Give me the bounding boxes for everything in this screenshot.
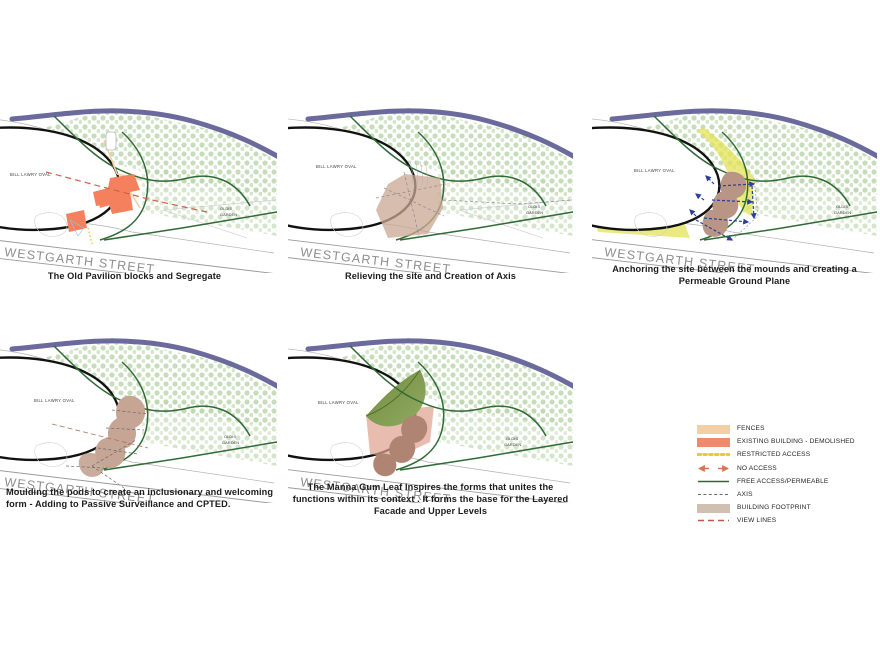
site-plan-svg-4: WESTGARTH STREET BILL LAWRY OVAL OLDIS G… <box>0 318 277 503</box>
panel-5-caption: The Manna Gum Leaf Inspires the forms th… <box>288 481 573 517</box>
panel-2-caption: Relieving the site and Creation of Axis <box>288 270 573 282</box>
legend-label-existing-building-demolished: EXISTING BUILDING - DEMOLISHED <box>737 438 855 445</box>
street-label: WESTGARTH STREET <box>300 245 452 273</box>
legend-label-axis: AXIS <box>737 491 753 498</box>
solid-line-icon <box>697 475 730 488</box>
garden-label-line1: OLDIS <box>528 204 540 209</box>
garden-label-line2: GARDEN <box>220 212 237 217</box>
dotted-line-icon <box>697 448 730 461</box>
panel-3: WESTGARTH STREET BILL LAWRY OVAL OLDIS G… <box>592 88 877 303</box>
panel-1-caption: The Old Pavilion blocks and Segregate <box>0 270 277 282</box>
double-arrow-icon <box>697 462 730 475</box>
garden-label-line2: GARDEN <box>526 210 543 215</box>
oval-label: BILL LAWRY OVAL <box>318 400 359 405</box>
legend-label-view-lines: VIEW LINES <box>737 517 776 524</box>
legend-item-building-footprint: BUILDING FOOTPRINT <box>697 501 867 514</box>
oval-label: BILL LAWRY OVAL <box>10 172 51 177</box>
panel-5-map: WESTGARTH STREET BILL LAWRY OVAL OLDIS G… <box>288 318 573 503</box>
legend-item-free-access-permeable: FREE ACCESS/PERMEABLE <box>697 475 867 488</box>
legend-item-restricted-access: RESTRICTED ACCESS <box>697 448 867 461</box>
pod-3 <box>703 210 729 237</box>
free-access-permeable-swatch <box>697 475 730 488</box>
panel-5-caption-line-2: functions within its context . It forms … <box>288 493 573 505</box>
legend-item-fences: FENCES <box>697 422 867 435</box>
panel-5-caption-line-3: Facade and Upper Levels <box>288 505 573 517</box>
pod-3 <box>373 454 396 477</box>
garden-label-line1: OLDIS <box>506 436 518 441</box>
dashed-red-line-icon <box>697 514 730 527</box>
site-plan-svg-3: WESTGARTH STREET BILL LAWRY OVAL OLDIS G… <box>592 88 877 273</box>
existing-building-demolished-swatch <box>697 438 730 447</box>
legend-item-view-lines: VIEW LINES <box>697 514 867 527</box>
axis-swatch <box>697 488 730 501</box>
garden-label-line1: OLDIS <box>224 434 236 439</box>
site-plan-svg-1: WESTGARTH STREET BILL LAWRY OVAL OLDIS G… <box>0 88 277 273</box>
panel-4-caption: Moulding the pods to create an inclusion… <box>0 486 277 510</box>
legend-label-fences: FENCES <box>737 425 765 432</box>
legend-item-axis: AXIS <box>697 488 867 501</box>
garden-label-line2: GARDEN <box>834 210 851 215</box>
legend-item-no-access: NO ACCESS <box>697 462 867 475</box>
panel-2: WESTGARTH STREET BILL LAWRY OVAL OLDIS G… <box>288 88 573 303</box>
panel-1: WESTGARTH STREET BILL LAWRY OVAL OLDIS G… <box>0 88 277 303</box>
panel-3-caption: Anchoring the site between the mounds an… <box>592 263 877 287</box>
panel-4: WESTGARTH STREET BILL LAWRY OVAL OLDIS G… <box>0 318 277 533</box>
panel-1-map: WESTGARTH STREET BILL LAWRY OVAL OLDIS G… <box>0 88 277 273</box>
panel-5: WESTGARTH STREET BILL LAWRY OVAL OLDIS G… <box>288 318 573 533</box>
panel-4-caption-line-2: form - Adding to Passive Surveillance an… <box>6 498 277 510</box>
dashed-thin-line-icon <box>697 488 730 501</box>
site-plan-svg-2: WESTGARTH STREET BILL LAWRY OVAL OLDIS G… <box>288 88 573 273</box>
panel-3-caption-line-1: Anchoring the site between the mounds an… <box>592 263 877 275</box>
legend-label-free-access-permeable: FREE ACCESS/PERMEABLE <box>737 478 828 485</box>
no-access-swatch <box>697 462 730 475</box>
legend: FENCES EXISTING BUILDING - DEMOLISHED RE… <box>697 422 867 528</box>
oval-label: BILL LAWRY OVAL <box>316 164 357 169</box>
panel-2-map: WESTGARTH STREET BILL LAWRY OVAL OLDIS G… <box>288 88 573 273</box>
fences-swatch <box>697 425 730 434</box>
panel-4-map: WESTGARTH STREET BILL LAWRY OVAL OLDIS G… <box>0 318 277 503</box>
panel-3-caption-line-2: Permeable Ground Plane <box>592 275 877 287</box>
view-lines-swatch <box>697 514 730 527</box>
oval-label: BILL LAWRY OVAL <box>634 168 675 173</box>
panel-5-caption-line-1: The Manna Gum Leaf Inspires the forms th… <box>288 481 573 493</box>
site-plan-svg-5: WESTGARTH STREET BILL LAWRY OVAL OLDIS G… <box>288 318 573 503</box>
street-label: WESTGARTH STREET <box>4 245 156 273</box>
legend-item-existing-building-demolished: EXISTING BUILDING - DEMOLISHED <box>697 435 867 448</box>
garden-label-line1: OLDIS <box>836 204 848 209</box>
oval-label: BILL LAWRY OVAL <box>34 398 75 403</box>
panel-4-caption-line-1: Moulding the pods to create an inclusion… <box>6 486 277 498</box>
legend-label-restricted-access: RESTRICTED ACCESS <box>737 451 810 458</box>
garden-label-line2: GARDEN <box>504 442 521 447</box>
restricted-access-line <box>88 228 92 244</box>
garden-label-line1: OLDIS <box>220 206 232 211</box>
legend-label-no-access: NO ACCESS <box>737 465 777 472</box>
building-footprint-swatch <box>697 504 730 513</box>
panel-3-map: WESTGARTH STREET BILL LAWRY OVAL OLDIS G… <box>592 88 877 273</box>
garden-label-line2: GARDEN <box>222 440 239 445</box>
legend-label-building-footprint: BUILDING FOOTPRINT <box>737 504 811 511</box>
restricted-access-swatch <box>697 448 730 461</box>
